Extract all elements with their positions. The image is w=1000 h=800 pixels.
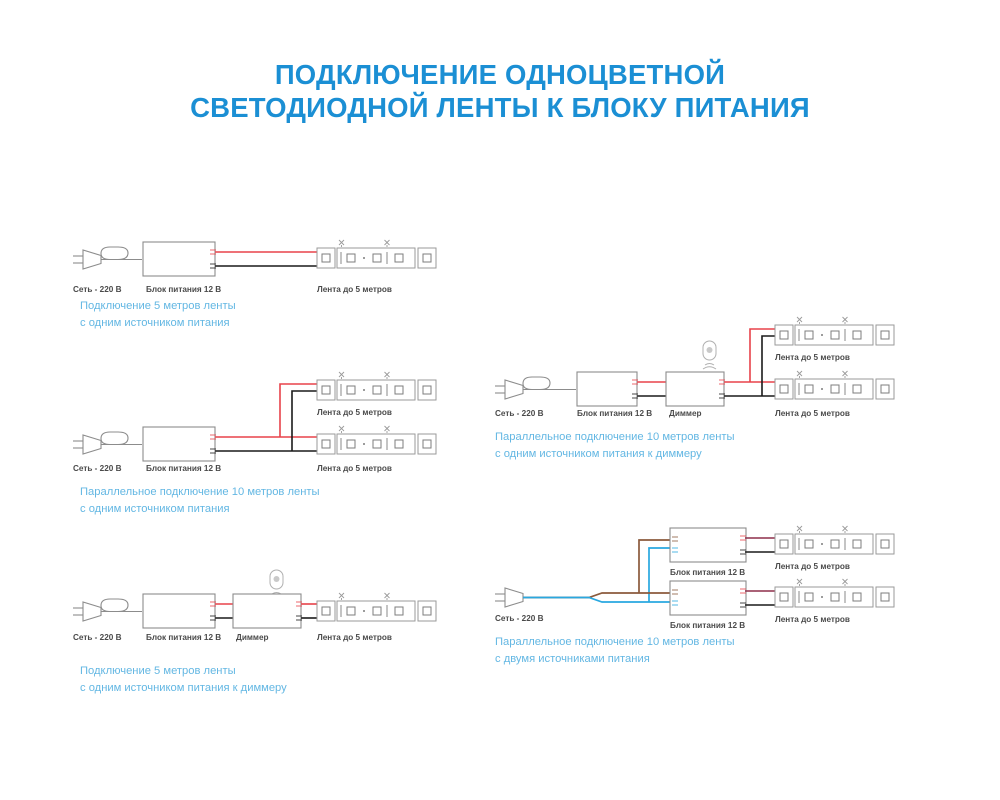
caption-line-2: с двумя источниками питания — [495, 651, 735, 668]
wire-bundle — [745, 538, 775, 552]
caption-line-1: Подключение 5 метров ленты — [80, 663, 287, 680]
cut-mark-icon — [797, 526, 802, 533]
mains-plug-icon — [495, 377, 576, 399]
dimmer-box — [666, 372, 725, 406]
led-strip — [317, 593, 436, 621]
caption-line-1: Параллельное подключение 10 метров ленты — [495, 634, 735, 651]
led-strip — [317, 426, 436, 454]
led-strip — [775, 371, 894, 399]
caption-line-2: с одним источником питания — [80, 501, 320, 518]
wire-bundle — [215, 252, 317, 266]
led-strip — [775, 526, 894, 554]
cut-mark-icon — [385, 426, 390, 433]
caption-line-1: Параллельное подключение 10 метров ленты — [495, 429, 735, 446]
label-psu: Блок питания 12 В — [146, 464, 221, 473]
caption-line-2: с одним источником питания к диммеру — [80, 680, 287, 697]
mains-plug-icon — [73, 432, 142, 454]
label-psu: Блок питания 12 В — [670, 568, 745, 577]
led-strip — [317, 372, 436, 400]
caption-parallel-10m-dimmer: Параллельное подключение 10 метров ленты… — [495, 429, 735, 462]
label-psu: Блок питания 12 В — [577, 409, 652, 418]
cut-mark-icon — [797, 317, 802, 324]
dimmer-box — [233, 594, 302, 628]
page-title-line-2: СВЕТОДИОДНОЙ ЛЕНТЫ К БЛОКУ ПИТАНИЯ — [0, 91, 1000, 124]
label-strip: Лента до 5 метров — [317, 633, 392, 642]
cut-mark-icon — [385, 372, 390, 379]
caption-line-2: с одним источником питания — [80, 315, 236, 332]
cut-mark-icon — [797, 579, 802, 586]
diagram-parallel-10m-two-psu: Лента до 5 метров Блок питания 12 В Сеть… — [492, 518, 992, 623]
caption-line-2: с одним источником питания к диммеру — [495, 446, 735, 463]
mains-plug-icon — [73, 599, 142, 621]
mains-plug-icon — [495, 588, 523, 607]
power-supply-box — [143, 594, 216, 628]
caption-single-5m-dimmer: Подключение 5 метров ленты с одним источ… — [80, 663, 287, 696]
label-mains: Сеть - 220 В — [73, 285, 122, 294]
power-supply-box — [670, 581, 746, 615]
label-strip: Лента до 5 метров — [775, 562, 850, 571]
label-strip: Лента до 5 метров — [775, 409, 850, 418]
caption-parallel-10m-two-psu: Параллельное подключение 10 метров ленты… — [495, 634, 735, 667]
diagram-parallel-10m-one-psu: Лента до 5 метров Сеть - 220 В Блок пита… — [70, 368, 490, 463]
label-strip: Лента до 5 метров — [317, 285, 392, 294]
cut-mark-icon — [339, 240, 344, 247]
power-supply-box — [143, 242, 216, 276]
label-psu: Блок питания 12 В — [146, 285, 221, 294]
label-psu: Блок питания 12 В — [670, 621, 745, 630]
page-title-line-1: ПОДКЛЮЧЕНИЕ ОДНОЦВЕТНОЙ — [275, 59, 725, 90]
power-supply-box — [143, 427, 216, 461]
label-strip: Лента до 5 метров — [317, 408, 392, 417]
remote-control-icon — [703, 341, 716, 369]
mains-plug-icon — [73, 247, 142, 269]
caption-single-5m: Подключение 5 метров ленты с одним источ… — [80, 298, 236, 331]
cut-mark-icon — [843, 371, 848, 378]
cut-mark-icon — [339, 372, 344, 379]
wire-bundle — [724, 329, 775, 396]
wire-bundle — [215, 384, 317, 451]
label-mains: Сеть - 220 В — [495, 614, 544, 623]
caption-parallel-10m-one-psu: Параллельное подключение 10 метров ленты… — [80, 484, 320, 517]
wire-bundle — [745, 591, 775, 605]
cut-mark-icon — [797, 371, 802, 378]
mains-wire-pair — [523, 540, 670, 602]
power-supply-box — [670, 528, 746, 562]
cut-mark-icon — [385, 240, 390, 247]
diagram-single-5m-dimmer: Сеть - 220 В Блок питания 12 В Диммер Ле… — [70, 570, 490, 630]
diagram-single-5m: Сеть - 220 В Блок питания 12 В Лента до … — [70, 236, 490, 286]
label-dimmer: Диммер — [236, 633, 269, 642]
label-mains: Сеть - 220 В — [73, 633, 122, 642]
wire-bundle — [215, 604, 233, 618]
label-strip: Лента до 5 метров — [317, 464, 392, 473]
cut-mark-icon — [385, 593, 390, 600]
caption-line-1: Подключение 5 метров ленты — [80, 298, 236, 315]
label-mains: Сеть - 220 В — [73, 464, 122, 473]
cut-mark-icon — [339, 593, 344, 600]
wire-bundle — [637, 382, 666, 396]
diagram-parallel-10m-dimmer: Лента до 5 метров Сеть - 220 В Блок пита… — [492, 313, 992, 408]
label-dimmer: Диммер — [669, 409, 702, 418]
page-title: ПОДКЛЮЧЕНИЕ ОДНОЦВЕТНОЙ СВЕТОДИОДНОЙ ЛЕН… — [0, 58, 1000, 124]
cut-mark-icon — [843, 317, 848, 324]
label-strip: Лента до 5 метров — [775, 353, 850, 362]
led-strip — [317, 240, 436, 268]
label-mains: Сеть - 220 В — [495, 409, 544, 418]
caption-line-1: Параллельное подключение 10 метров ленты — [80, 484, 320, 501]
label-strip: Лента до 5 метров — [775, 615, 850, 624]
led-strip — [775, 579, 894, 607]
cut-mark-icon — [843, 579, 848, 586]
cut-mark-icon — [339, 426, 344, 433]
power-supply-box — [577, 372, 638, 406]
label-psu: Блок питания 12 В — [146, 633, 221, 642]
cut-mark-icon — [843, 526, 848, 533]
wire-bundle — [301, 604, 317, 618]
led-strip — [775, 317, 894, 345]
